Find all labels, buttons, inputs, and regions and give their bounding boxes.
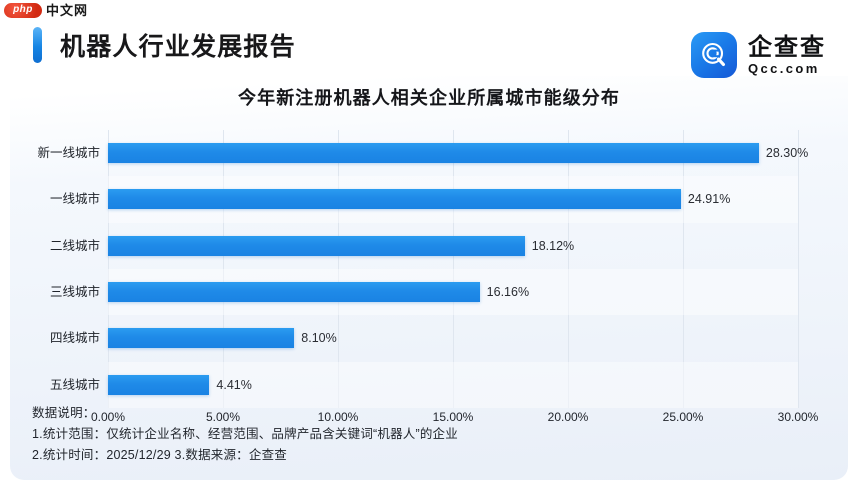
bar-chart: 新一线城市一线城市二线城市三线城市四线城市五线城市 28.30%24.91%18… [10,118,848,418]
data-notes: 数据说明：1.统计范围：仅统计企业名称、经营范围、品牌产品含关键词“机器人”的企… [32,403,826,466]
site-name-label: 中文网 [46,4,88,17]
brand-logo: 企查查 Qcc.com [691,32,826,78]
chart-row[interactable]: 8.10% [108,315,798,361]
brand-text: 企查查 Qcc.com [748,35,826,75]
note-line: 1.统计范围：仅统计企业名称、经营范围、品牌产品含关键词“机器人”的企业 [32,424,826,445]
chart-row[interactable]: 28.30% [108,130,798,176]
bar[interactable] [108,236,525,256]
bar[interactable] [108,282,480,302]
y-axis-label: 二线城市 [50,223,100,269]
y-axis-label: 五线城市 [50,362,100,408]
bar-value-label: 8.10% [294,328,336,348]
chart-row[interactable]: 4.41% [108,362,798,408]
brand-name-en: Qcc.com [748,62,826,75]
page-title: 机器人行业发展报告 [60,27,296,63]
chart-row[interactable]: 16.16% [108,269,798,315]
bar[interactable] [108,189,681,209]
site-logo-bar: php 中文网 [0,0,855,20]
bar-value-label: 24.91% [681,189,730,209]
brand-name-cn: 企查查 [748,35,826,60]
y-axis-label: 新一线城市 [37,130,100,176]
title-accent-bar [33,27,42,63]
y-axis-categories: 新一线城市一线城市二线城市三线城市四线城市五线城市 [10,130,100,408]
bar[interactable] [108,143,759,163]
y-axis-label: 四线城市 [50,315,100,361]
bar-value-label: 4.41% [209,375,251,395]
chart-title: 今年新注册机器人相关企业所属城市能级分布 [10,84,848,110]
report-page: php 中文网 机器人行业发展报告 企查查 Qcc.com [0,0,855,488]
report-card: 机器人行业发展报告 企查查 Qcc.com 今年新注册机器人相关企业所属城市能级… [10,14,848,480]
bar-value-label: 16.16% [480,282,529,302]
y-axis-label: 三线城市 [50,269,100,315]
note-line: 2.统计时间：2025/12/29 3.数据来源：企查查 [32,445,826,466]
bar[interactable] [108,328,294,348]
php-logo-icon: php [4,3,42,18]
chart-row[interactable]: 18.12% [108,223,798,269]
chart-row[interactable]: 24.91% [108,176,798,222]
bar-value-label: 18.12% [525,236,574,256]
chart-plot-area: 28.30%24.91%18.12%16.16%8.10%4.41% [108,130,798,408]
gridline [798,130,799,408]
qcc-search-logo-icon [691,32,737,78]
bar[interactable] [108,375,209,395]
note-line: 数据说明： [32,403,826,424]
bar-value-label: 28.30% [759,143,808,163]
y-axis-label: 一线城市 [50,176,100,222]
